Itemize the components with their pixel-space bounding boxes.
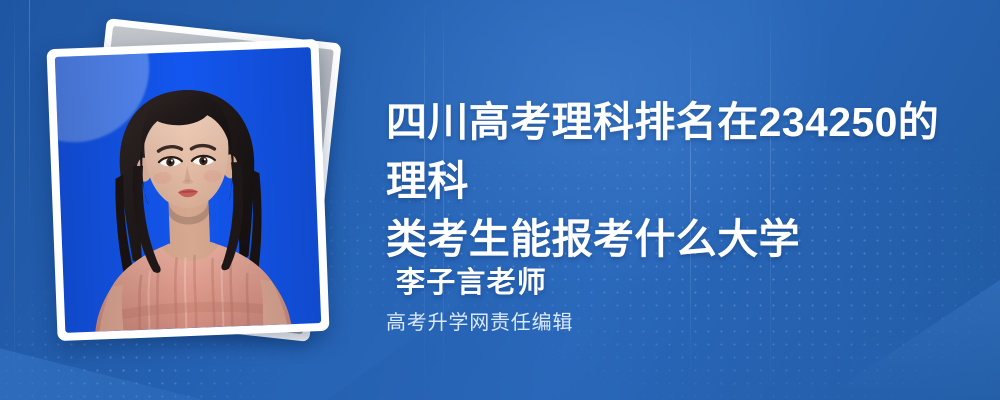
article-header-banner: 四川高考理科排名在234250的理科 类考生能报考什么大学 李子言老师 高考升学… [0,0,1000,400]
author-photo-frame [55,47,321,333]
author-name: 李子言老师 [396,268,573,300]
photo-card-front [46,39,329,341]
byline: 李子言老师 高考升学网责任编辑 [396,268,573,334]
author-photo-stack [52,18,342,366]
headline-line-2: 类考生能报考什么大学 [386,216,800,262]
headline-line-1: 四川高考理科排名在234250的理科 [386,99,939,203]
author-portrait-icon [55,47,321,333]
page-title: 四川高考理科排名在234250的理科 类考生能报考什么大学 [386,93,976,268]
banner-text-column: 四川高考理科排名在234250的理科 类考生能报考什么大学 李子言老师 高考升学… [386,0,976,400]
author-role: 高考升学网责任编辑 [386,312,573,334]
